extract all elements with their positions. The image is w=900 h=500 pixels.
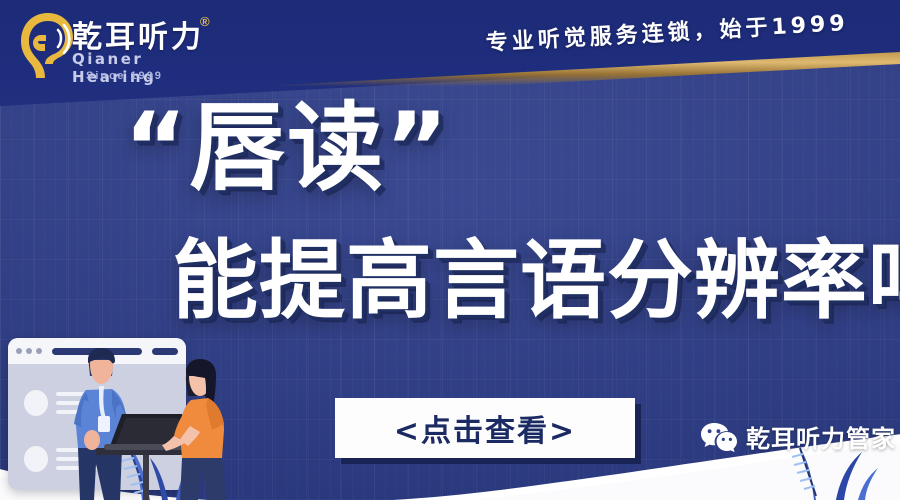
- headline-line-1: “唇读”: [124, 96, 450, 200]
- wechat-account-name: 乾耳听力管家: [746, 419, 896, 454]
- wechat-account[interactable]: 乾耳听力管家: [700, 419, 896, 454]
- view-detail-button[interactable]: <点击查看>: [335, 398, 635, 458]
- poster-canvas: 乾耳听力 ® Qianer Hearing Since 1999 专业听觉服务连…: [0, 0, 900, 500]
- wechat-icon: [700, 422, 738, 452]
- headline-line-2: 能提高言语分辨率吗?: [172, 234, 900, 328]
- two-people-with-laptop-illustration: [0, 318, 300, 500]
- brand-logo[interactable]: 乾耳听力 ® Qianer Hearing Since 1999: [14, 6, 234, 90]
- logo-since: Since 1999: [86, 70, 163, 82]
- registered-mark-icon: ®: [200, 14, 210, 29]
- view-detail-button-label: <点击查看>: [394, 406, 576, 450]
- ear-logo-icon: [14, 8, 76, 82]
